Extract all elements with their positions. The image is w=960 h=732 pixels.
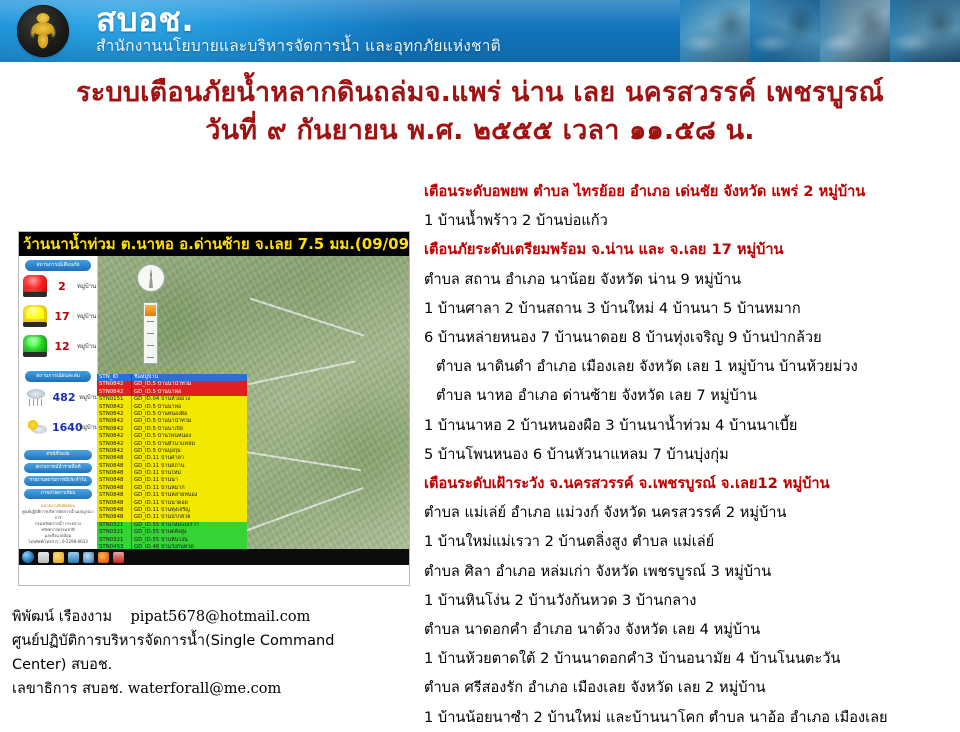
cell-village-name: GD_ID.11 บ้านนา [131,477,247,484]
contact-line-3: Center) สบอช. [12,653,412,677]
start-orb-icon[interactable] [22,551,34,563]
cell-village-name: GD_ID.5 บ้านโพนหนอง [131,433,247,440]
report-alert-heading: เตือนภัยระดับเตรียมพร้อม จ.น่าน และ จ.เล… [424,235,958,264]
station-table-row[interactable]: STN0321GD_ID.55 บ้านหินโง่น [97,537,247,544]
contact-email-1[interactable]: pipat5678@hotmail.com [131,609,311,625]
cell-station-id: STN0321 [97,522,131,529]
contact-email-2[interactable]: waterforall@me.com [128,681,281,697]
cell-village-name: GD_ID.5 บ้านบุ่งกุ่ม [131,448,247,455]
cell-village-name: GD_ID.5 บ้านนาน้ำท่วม [131,381,247,388]
map-screenshot-titlebar: ว้านนาน้ำท่วม ต.นาหอ อ.ด่านซ้าย จ.เลย 7.… [19,232,409,256]
legend-rain-heading: สถานการณ์ฝนสะสม [25,371,91,382]
station-table-header: STN_ID ชื่อหมู่บ้าน [97,374,247,381]
cell-village-name: GD_ID.5 บ้านนาหอ [131,389,247,396]
report-line: ตำบล สถาน อำเภอ นาน้อย จังหวัด น่าน 9 หม… [424,265,958,294]
cell-station-id: STN0321 [97,529,131,536]
legend-count-yellow: 17 [50,310,74,323]
cell-village-name: GD_ID.55 บ้านหินโง่น [131,537,247,544]
zoom-slider-knob[interactable] [145,305,156,316]
legend-note-line-4: โทรศัพท์/โทรสาร : 0-2298-6633 [22,539,94,545]
station-table-row[interactable]: STN0848GD_ID.11 บ้านป่ากล้วย [97,514,247,521]
cell-village-name: GD_ID.5 บ้านหัวนาแหลม [131,441,247,448]
station-table-row[interactable]: STN0842GD_ID.5 บ้านหนองผือ [97,411,247,418]
warning-report: เตือนระดับอพยพ ตำบล ไทรย้อย อำเภอ เด่นชั… [424,177,958,732]
legend-button-index[interactable]: ดัชนีชี้วัดภัย [24,450,92,460]
report-line: ตำบล ศิลา อำเภอ หล่มเก่า จังหวัด เพชรบูร… [424,557,958,586]
station-table-row[interactable]: STN0848GD_ID.11 บ้านหมาก [97,485,247,492]
banner-photo-2 [750,0,820,62]
cell-station-id: STN0848 [97,470,131,477]
map-legend-panel: สถานการณ์เตือนภัย 2 หมู่บ้าน 17 หมู่บ้าน… [19,256,98,565]
cell-village-name: GD_ID.55 บ้านใหม่แม่เรวา [131,522,247,529]
garuda-glyph [26,12,60,50]
report-line: 1 บ้านห้วยตาดใต้ 2 บ้านนาดอกคำ3 บ้านอนาม… [424,644,958,673]
page-title-line-1: ระบบเตือนภัยน้ำหลากดินถล่มจ.แพร่ น่าน เล… [0,74,960,112]
legend-count-rain: 482 [52,391,76,404]
legend-row-sun[interactable]: 1640 หมู่บ้าน [19,412,97,442]
cell-village-name: GD_ID.11 บ้านป่ากล้วย [131,514,247,521]
station-table-row[interactable]: STN0842GD_ID.5 บ้านบุ่งกุ่ม [97,448,247,455]
report-line: 1 บ้านน้ำพร้าว 2 บ้านบ่อแก้ว [424,206,958,235]
station-table-row[interactable]: STN0842GD_ID.5 บ้านนาหอ [97,404,247,411]
legend-button-area-status[interactable]: สถานการณ์น้ำรายพื้นที่ [24,463,92,473]
sun-cloud-icon [23,417,49,437]
brand-block: สบอช. สำนักงานนโยบายและบริหารจัดการน้ำ แ… [96,0,501,62]
legend-unit-sun: หมู่บ้าน [79,422,98,432]
firefox-icon[interactable] [53,552,64,563]
legend-button-satellite[interactable]: ภาพถ่ายดาวเทียม [24,489,92,499]
cell-village-name: GD_ID.11 บ้านใหม่ [131,470,247,477]
cell-village-name: GD_ID.11 บ้านทุ่งเจริญ [131,507,247,514]
cell-village-name: GD_ID.11 บ้านศาลา [131,455,247,462]
station-table-row[interactable]: STN0842GD_ID.5 บ้านนาหอ [97,389,247,396]
cell-station-id: STN0842 [97,441,131,448]
banner-photo-4 [890,0,960,62]
cell-village-name: GD_ID.11 บ้านหมาก [131,485,247,492]
cell-station-id: STN0842 [97,426,131,433]
contact-line-2: ศูนย์ปฏิบัติการบริหารจัดการน้ำ(Single Co… [12,629,412,653]
report-alert-heading: เตือนระดับอพยพ ตำบล ไทรย้อย อำเภอ เด่นชั… [424,177,958,206]
cell-station-id: STN0848 [97,507,131,514]
station-table-rows: STN0842GD_ID.5 บ้านนาน้ำท่วมSTN0842GD_ID… [97,381,247,559]
legend-unit-yellow: หมู่บ้าน [77,311,96,321]
banner-photo-3 [820,0,890,62]
station-table-row[interactable]: STN0848GD_ID.11 บ้านศาลา [97,455,247,462]
ie-icon[interactable] [83,552,94,563]
cell-station-id: STN0842 [97,411,131,418]
station-table-row[interactable]: STN0848GD_ID.11 บ้านทุ่งเจริญ [97,507,247,514]
cell-station-id: STN0848 [97,492,131,499]
cell-station-id: STN0848 [97,477,131,484]
contact-name: พิพัฒน์ เรืองงาม [12,609,112,625]
contact-block: พิพัฒน์ เรืองงาม pipat5678@hotmail.com ศ… [12,605,412,701]
report-line: ตำบล แม่เล่ย์ อำเภอ แม่วงก์ จังหวัด นครส… [424,498,958,527]
cell-station-id: STN0842 [97,448,131,455]
cell-station-id: STN0151 [97,396,131,403]
cell-village-name: GD_ID.04 บ้านห้วยม่วง [131,396,247,403]
zoom-slider[interactable] [143,302,158,364]
th-station: STN_ID [97,374,131,381]
page-root: สบอช. สำนักงานนโยบายและบริหารจัดการน้ำ แ… [0,0,960,720]
legend-alert-heading: สถานการณ์เตือนภัย [25,260,91,271]
garuda-emblem-icon [18,6,68,56]
cell-station-id: STN0842 [97,389,131,396]
app-icon[interactable] [68,552,79,563]
rain-cloud-icon [23,387,49,407]
legend-button-daily-report[interactable]: รายงานสถานการณ์ประจำวัน [24,476,92,486]
zoom-tick [147,321,154,322]
cell-station-id: STN0848 [97,463,131,470]
report-line: ตำบล ศรีสองรัก อำเภอ เมืองเลย จังหวัด เล… [424,673,958,702]
legend-row-red[interactable]: 2 หมู่บ้าน [19,271,97,301]
legend-row-green[interactable]: 12 หมู่บ้าน [19,331,97,361]
legend-row-rain[interactable]: 482 หมู่บ้าน [19,382,97,412]
zoom-tick [147,357,154,358]
cell-station-id: STN0842 [97,404,131,411]
zoom-tick [147,345,154,346]
station-table-row[interactable]: STN0842GD_ID.5 บ้านโพนหนอง [97,433,247,440]
contact-secretary-label: เลขาธิการ สบอช. [12,681,123,697]
cell-village-name: GD_ID.5 บ้านนาน้ำท่วม [131,418,247,425]
station-table-row[interactable]: STN0848GD_ID.11 บ้านใหม่ [97,470,247,477]
banner-photo-1 [680,0,750,62]
station-table-row[interactable]: STN0842GD_ID.5 บ้านหัวนาแหลม [97,441,247,448]
station-table-row[interactable]: STN0842GD_ID.5 บ้านนาเบี้ย [97,426,247,433]
legend-agency-note: หน่วยงานรับผิดชอบ ศูนย์ปฏิบัติการบริหารจ… [19,503,97,545]
map-screenshot-body: สถานการณ์เตือนภัย 2 หมู่บ้าน 17 หมู่บ้าน… [19,256,409,565]
compass-icon[interactable] [137,264,165,292]
report-line: 5 บ้านโพนหนอง 6 บ้านหัวนาแหลม 7 บ้านบุ่ง… [424,440,958,469]
cell-village-name: GD_ID.55 บ้านตลิ่งสูง [131,529,247,536]
cell-village-name: GD_ID.11 บ้านสถาน [131,463,247,470]
cell-station-id: STN0848 [97,455,131,462]
map-application-screenshot: ว้านนาน้ำท่วม ต.นาหอ อ.ด่านซ้าย จ.เลย 7.… [18,231,410,586]
legend-unit-red: หมู่บ้าน [77,281,96,291]
org-full-name: สำนักงานนโยบายและบริหารจัดการน้ำ และอุทก… [96,37,501,55]
cell-village-name: GD_ID.5 บ้านนาหอ [131,404,247,411]
explorer-icon[interactable] [38,552,49,563]
legend-row-yellow[interactable]: 17 หมู่บ้าน [19,301,97,331]
legend-note-line-2: กรมทรัพยากรน้ำ กระทรวงทรัพยากรธรรมชาติ [22,521,94,533]
th-name: ชื่อหมู่บ้าน [131,374,247,381]
legend-count-red: 2 [50,280,74,293]
cell-station-id: STN0842 [97,433,131,440]
station-table-row[interactable]: STN0848GD_ID.11 บ้านสถาน [97,463,247,470]
contact-line-1: พิพัฒน์ เรืองงาม pipat5678@hotmail.com [12,605,412,629]
station-table-row[interactable]: STN0848GD_ID.11 บ้านหล่ายหนอง [97,492,247,499]
cell-village-name: GD_ID.11 บ้านหล่ายหนอง [131,492,247,499]
banner-photo-strip [680,0,960,62]
legend-count-green: 12 [50,340,74,353]
cell-station-id: STN0842 [97,418,131,425]
report-alert-heading: เตือนระดับเฝ้าระวัง จ.นครสวรรค์ จ.เพชรบู… [424,469,958,498]
legend-count-sun: 1640 [52,421,76,434]
org-name: สบอช. [96,0,501,37]
river-line [231,487,363,537]
cell-station-id: STN0848 [97,514,131,521]
page-title-line-2: วันที่ ๙ กันยายน พ.ศ. ๒๕๕๕ เวลา ๑๑.๕๘ น. [0,112,960,150]
cell-village-name: GD_ID.5 บ้านหนองผือ [131,411,247,418]
station-table-row[interactable]: STN0848GD_ID.11 บ้านนา [97,477,247,484]
cell-village-name: GD_ID.11 บ้านนาดอย [131,500,247,507]
station-table-row[interactable]: STN0151GD_ID.04 บ้านห้วยม่วง [97,396,247,403]
cell-station-id: STN0842 [97,381,131,388]
report-line: 1 บ้านนาหอ 2 บ้านหนองผือ 3 บ้านนาน้ำท่วม… [424,411,958,440]
station-table-row[interactable]: STN0321GD_ID.55 บ้านใหม่แม่เรวา [97,522,247,529]
cell-village-name: GD_ID.5 บ้านนาเบี้ย [131,426,247,433]
report-line: 1 บ้านใหม่แม่เรวา 2 บ้านตลิ่งสูง ตำบล แม… [424,527,958,556]
pdf-icon[interactable] [113,552,124,563]
windows-taskbar[interactable] [19,549,409,565]
report-line: ตำบล นาหอ อำเภอ ด่านซ้าย จังหวัด เลย 7 ห… [424,381,958,410]
legend-unit-rain: หมู่บ้าน [79,392,98,402]
siren-red-icon [23,275,47,297]
station-table-row[interactable]: STN0848GD_ID.11 บ้านนาดอย [97,500,247,507]
cell-station-id: STN0848 [97,485,131,492]
report-line: ตำบล นาดอกคำ อำเภอ นาด้วง จังหวัด เลย 4 … [424,615,958,644]
station-table[interactable]: STN_ID ชื่อหมู่บ้าน STN0842GD_ID.5 บ้านน… [97,374,247,559]
flame-icon[interactable] [98,552,109,563]
report-line: 1 บ้านน้อยนาซำ 2 บ้านใหม่ และบ้านนาโคก ต… [424,703,958,732]
siren-yellow-icon [23,305,47,327]
cell-station-id: STN0321 [97,537,131,544]
page-title: ระบบเตือนภัยน้ำหลากดินถล่มจ.แพร่ น่าน เล… [0,74,960,150]
legend-unit-green: หมู่บ้าน [77,341,96,351]
report-line: 1 บ้านหินโง่น 2 บ้านวังก้นหวด 3 บ้านกลาง [424,586,958,615]
report-line: 1 บ้านศาลา 2 บ้านสถาน 3 บ้านใหม่ 4 บ้านน… [424,294,958,323]
siren-green-icon [23,335,47,357]
station-table-row[interactable]: STN0321GD_ID.55 บ้านตลิ่งสูง [97,529,247,536]
legend-note-line-1: ศูนย์ปฏิบัติการบริหารจัดการน้ำแบบบูรณากา… [22,509,94,521]
cell-station-id: STN0848 [97,500,131,507]
zoom-tick [147,333,154,334]
report-line: ตำบล นาดินดำ อำเภอ เมืองเลย จังหวัด เลย … [424,352,958,381]
report-line: 6 บ้านหล่ายหนอง 7 บ้านนาดอย 8 บ้านทุ่งเจ… [424,323,958,352]
station-table-row[interactable]: STN0842GD_ID.5 บ้านนาน้ำท่วม [97,381,247,388]
contact-line-4: เลขาธิการ สบอช. waterforall@me.com [12,677,412,701]
site-banner: สบอช. สำนักงานนโยบายและบริหารจัดการน้ำ แ… [0,0,960,62]
station-table-row[interactable]: STN0842GD_ID.5 บ้านนาน้ำท่วม [97,418,247,425]
river-line [250,298,365,337]
